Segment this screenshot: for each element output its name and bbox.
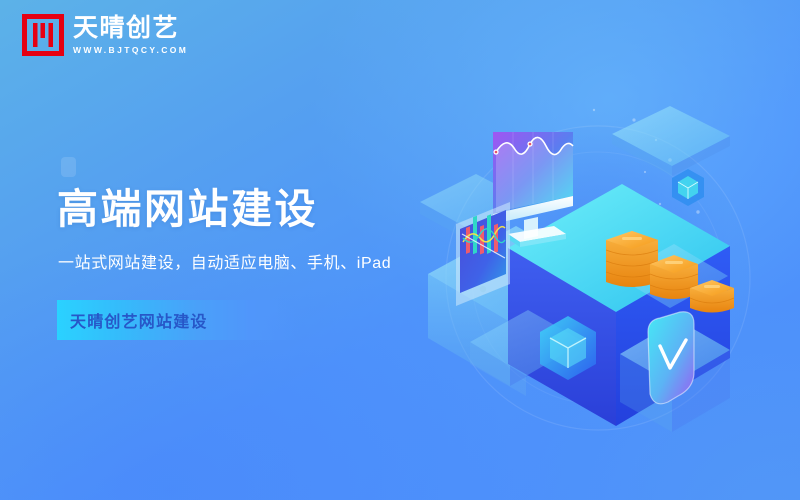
shield-check-badge xyxy=(648,312,694,404)
hero-illustration xyxy=(398,96,800,500)
cta-button[interactable]: 天晴创艺网站建设 xyxy=(57,300,300,340)
page-title: 高端网站建设 xyxy=(57,186,318,233)
logo-url: WWW.BJTQCY.COM xyxy=(73,45,188,55)
brand-logo[interactable]: 天晴创艺 WWW.BJTQCY.COM xyxy=(22,14,188,56)
logo-mark-icon xyxy=(22,14,64,56)
page-subtitle: 一站式网站建设，自动适应电脑、手机、iPad xyxy=(58,249,391,273)
hero-banner: 天晴创艺 WWW.BJTQCY.COM 高端网站建设 一站式网站建设，自动适应电… xyxy=(0,0,800,500)
decorative-chip xyxy=(61,157,76,177)
logo-name: 天晴创艺 xyxy=(73,15,188,41)
